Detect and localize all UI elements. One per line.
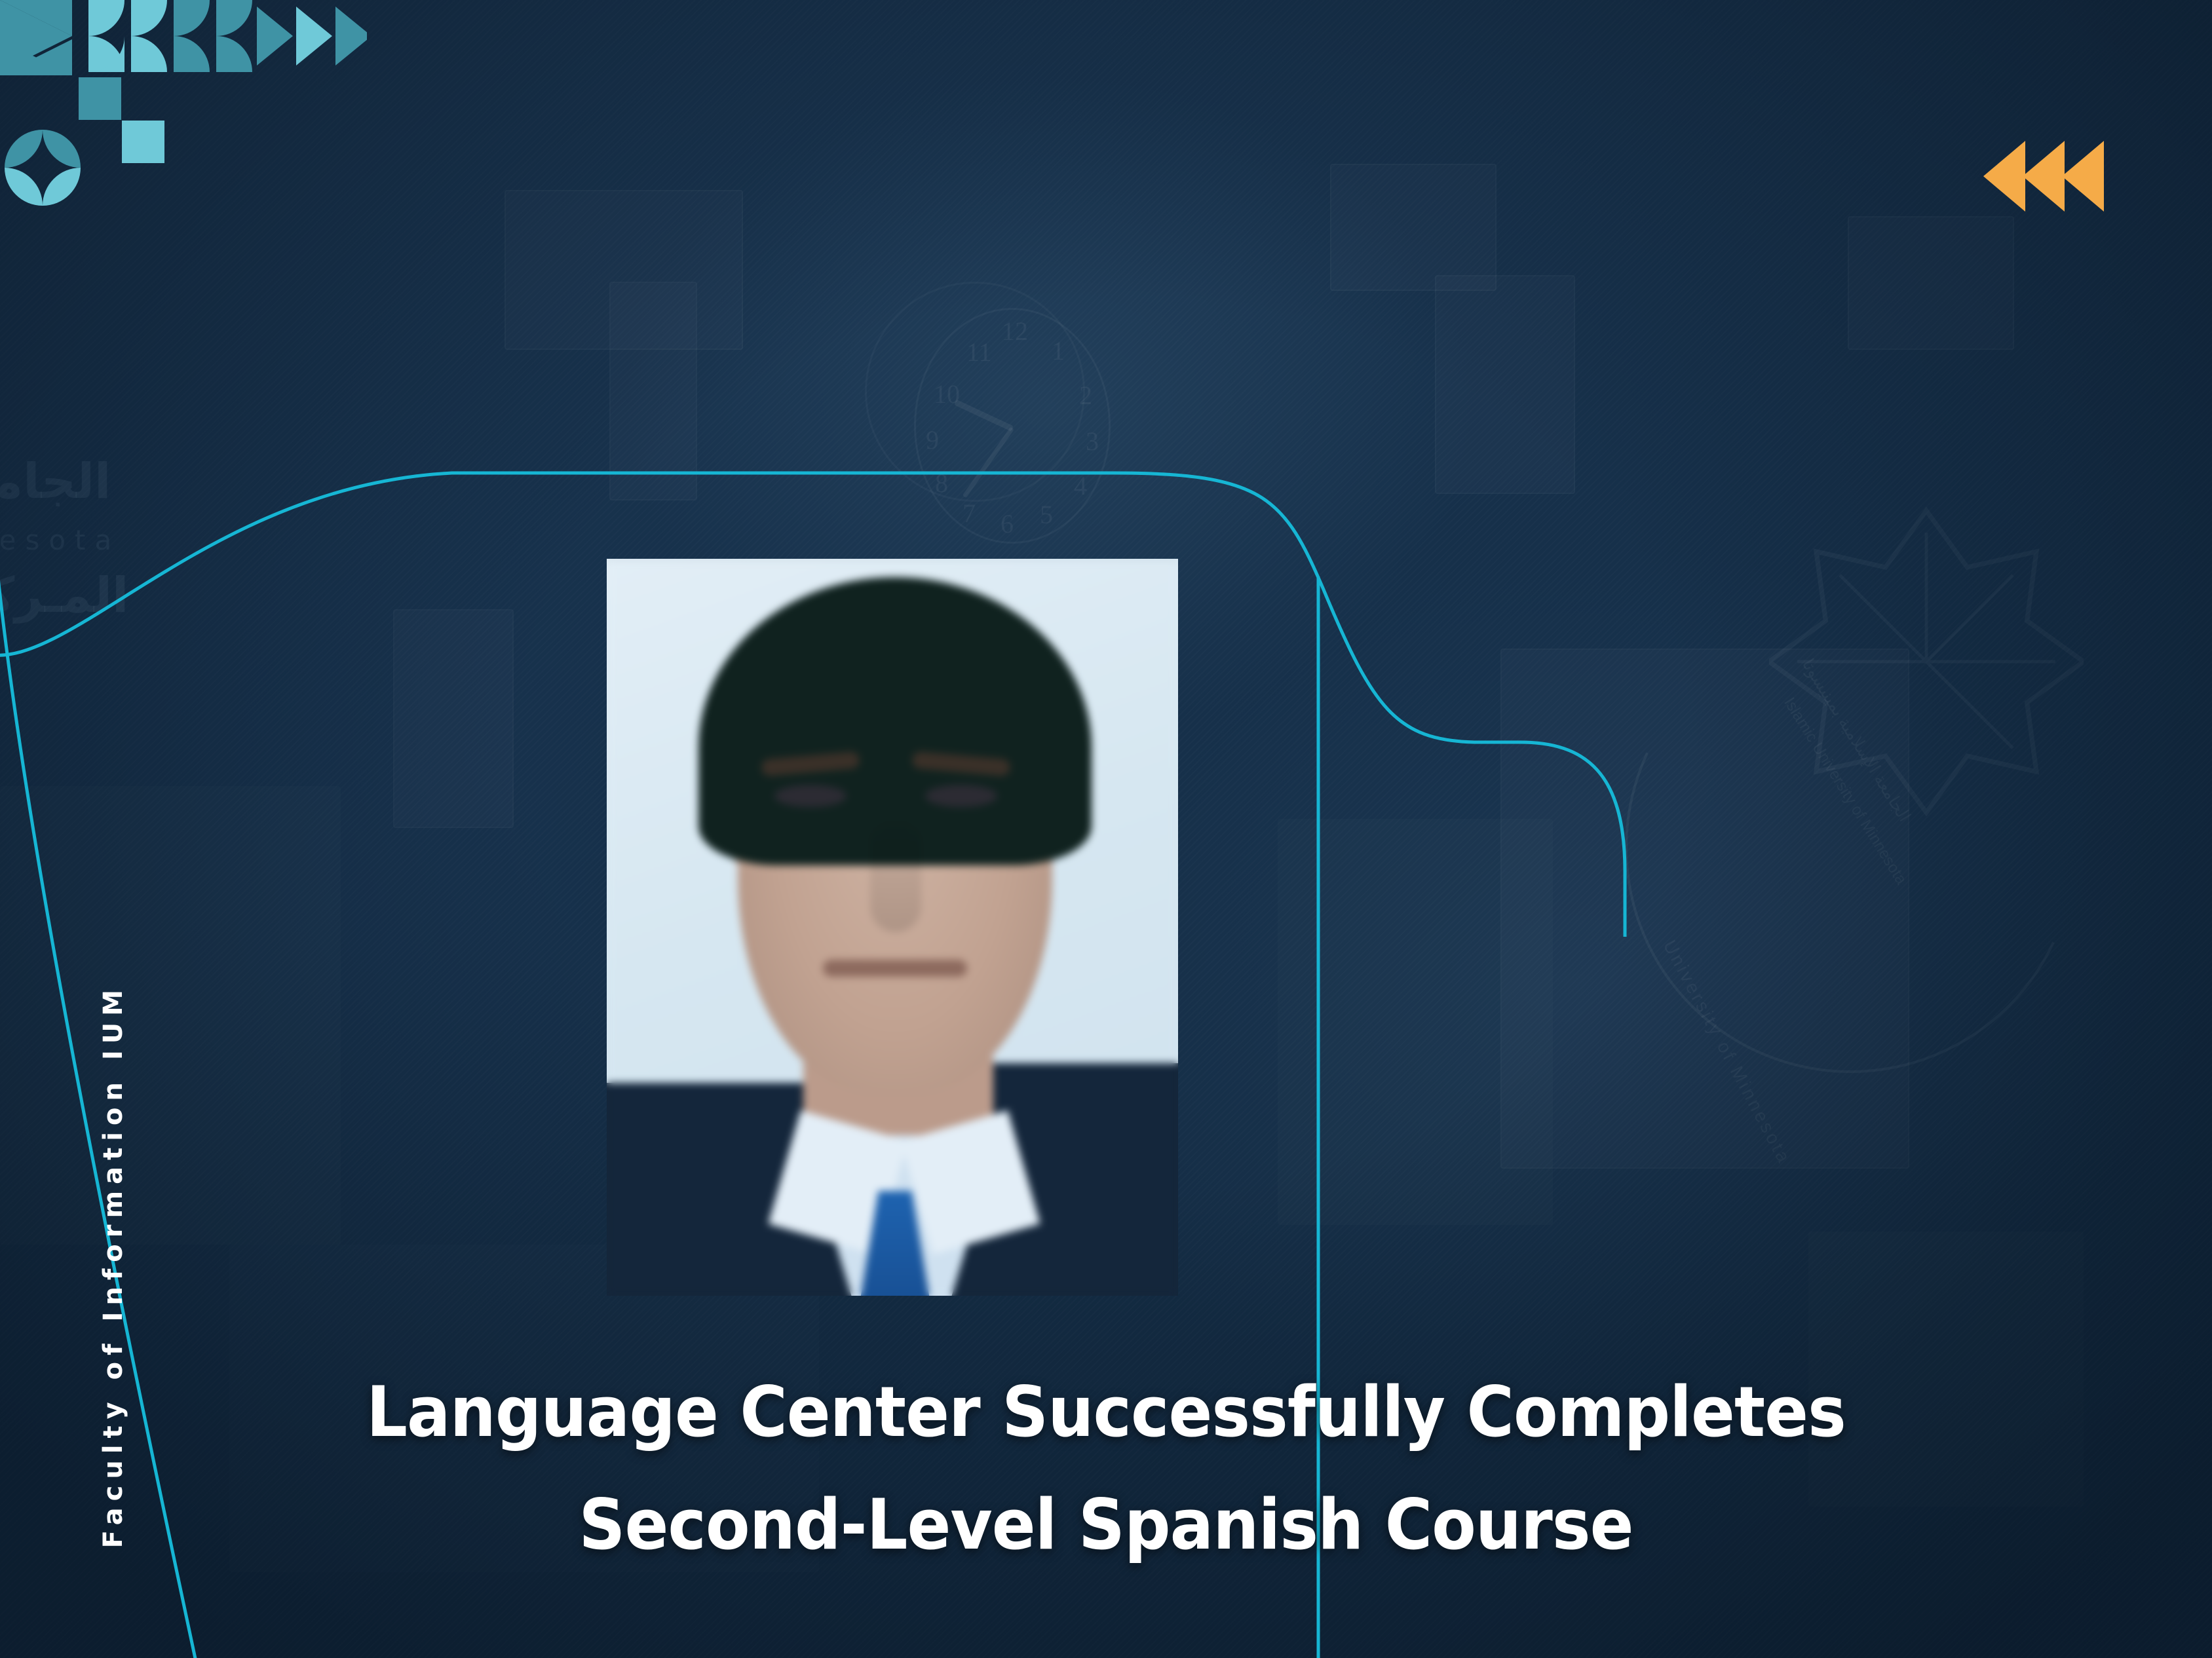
- left-arabic-watermark-2: المـركـ: [0, 567, 128, 624]
- clock-number: 7: [963, 498, 976, 529]
- clock-number: 6: [1001, 508, 1014, 539]
- clock-number: 1: [1052, 335, 1065, 366]
- rewind-icon[interactable]: [1983, 141, 2104, 212]
- geometric-decoration: [0, 0, 367, 223]
- square-shape: [79, 77, 121, 120]
- headline-line-1: Language Center Successfully Completes: [77, 1356, 2135, 1469]
- rewind-triangle-3: [2062, 141, 2104, 212]
- chevron-triangle-icon: [296, 7, 332, 66]
- wall-clock-watermark: 12 1 2 3 4 5 6 7 8 9 10 11: [914, 308, 1111, 544]
- rewind-triangle-1: [1983, 141, 2025, 212]
- slide-headline: Language Center Successfully Completes S…: [77, 1356, 2135, 1581]
- clock-number: 11: [966, 337, 992, 367]
- chevron-triangle-icon: [257, 7, 293, 66]
- four-petal-flower-icon: [5, 130, 81, 206]
- clock-number: 2: [1079, 380, 1092, 411]
- chevron-triangle-icon: [335, 7, 367, 66]
- clock-number: 3: [1086, 426, 1099, 457]
- speaker-portrait: [607, 559, 1178, 1296]
- rewind-triangle-2: [2023, 141, 2065, 212]
- clock-number: 5: [1040, 499, 1053, 530]
- clock-number: 4: [1074, 470, 1087, 501]
- left-latin-watermark: nesota: [0, 524, 121, 556]
- headline-line-2: Second-Level Spanish Course: [77, 1469, 2135, 1581]
- clock-number: 9: [926, 424, 939, 455]
- left-arabic-watermark-1: الجامـ: [0, 453, 111, 510]
- square-shape: [122, 121, 164, 163]
- clock-number: 8: [935, 468, 948, 499]
- presentation-slide: 12 1 2 3 4 5 6 7 8 9 10 11: [0, 0, 2212, 1658]
- clock-number: 12: [1002, 316, 1028, 347]
